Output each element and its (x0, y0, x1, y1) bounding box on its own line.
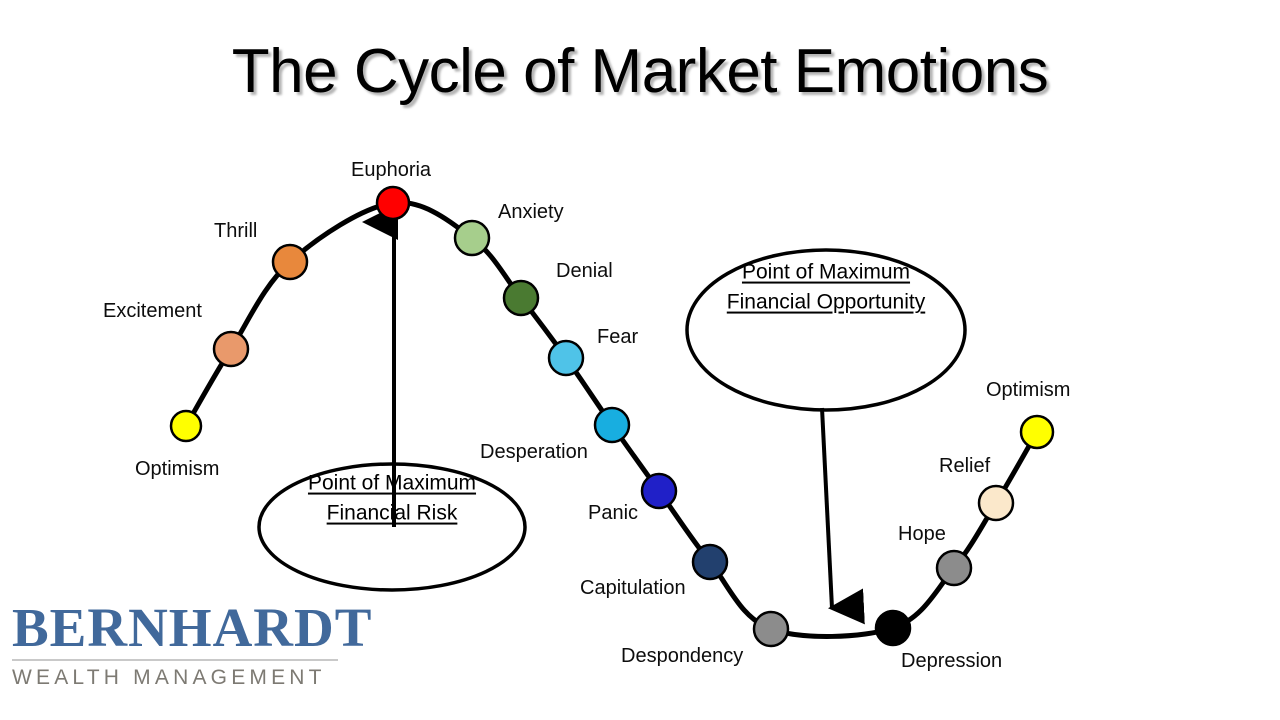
emotion-dot-excitement-1[interactable] (214, 332, 248, 366)
emotion-label-fear-6: Fear (597, 327, 638, 347)
emotion-dot-fear-6[interactable] (549, 341, 583, 375)
emotion-label-hope-12: Hope (898, 524, 946, 544)
emotion-label-thrill-2: Thrill (214, 221, 257, 241)
emotion-label-panic-8: Panic (588, 503, 638, 523)
emotion-label-optimism-14: Optimism (986, 380, 1070, 400)
emotion-dot-denial-5[interactable] (504, 281, 538, 315)
callout-text-max-financial-risk: Point of MaximumFinancial Risk (308, 469, 476, 530)
emotion-label-relief-13: Relief (939, 456, 990, 476)
emotion-dot-panic-8[interactable] (642, 474, 676, 508)
emotion-dot-despondency-10[interactable] (754, 612, 788, 646)
logo-divider (12, 659, 338, 661)
emotion-dot-euphoria-3[interactable] (377, 187, 409, 219)
emotion-label-excitement-1: Excitement (103, 301, 202, 321)
callout-line-1: Point of Maximum (308, 469, 476, 499)
emotion-label-euphoria-3: Euphoria (351, 160, 431, 180)
emotion-label-optimism-0: Optimism (135, 459, 219, 479)
emotion-dot-optimism-14[interactable] (1021, 416, 1053, 448)
emotion-dot-depression-11[interactable] (876, 611, 910, 645)
callout-line-2: Financial Opportunity (727, 288, 925, 318)
callout-arrow-max-financial-opportunity (822, 408, 832, 608)
brand-logo: BERNHARDT WEALTH MANAGEMENT (12, 600, 342, 688)
emotion-label-desperation-7: Desperation (480, 442, 588, 462)
emotion-dot-optimism-0[interactable] (171, 411, 201, 441)
emotion-dot-hope-12[interactable] (937, 551, 971, 585)
emotion-label-capitulation-9: Capitulation (580, 578, 686, 598)
emotion-dot-anxiety-4[interactable] (455, 221, 489, 255)
emotion-dot-desperation-7[interactable] (595, 408, 629, 442)
callout-text-max-financial-opportunity: Point of MaximumFinancial Opportunity (727, 258, 925, 319)
emotion-dot-thrill-2[interactable] (273, 245, 307, 279)
emotion-label-denial-5: Denial (556, 261, 613, 281)
callout-line-1: Point of Maximum (727, 258, 925, 288)
emotion-dot-capitulation-9[interactable] (693, 545, 727, 579)
logo-tagline: WEALTH MANAGEMENT (12, 667, 342, 688)
logo-wordmark: BERNHARDT (12, 600, 342, 655)
emotion-dot-relief-13[interactable] (979, 486, 1013, 520)
emotion-label-depression-11: Depression (901, 651, 1002, 671)
callout-line-2: Financial Risk (308, 499, 476, 529)
emotion-label-anxiety-4: Anxiety (498, 202, 564, 222)
slide-canvas: The Cycle of Market Emotions OptimismExc… (0, 0, 1280, 720)
emotion-label-despondency-10: Despondency (621, 646, 743, 666)
